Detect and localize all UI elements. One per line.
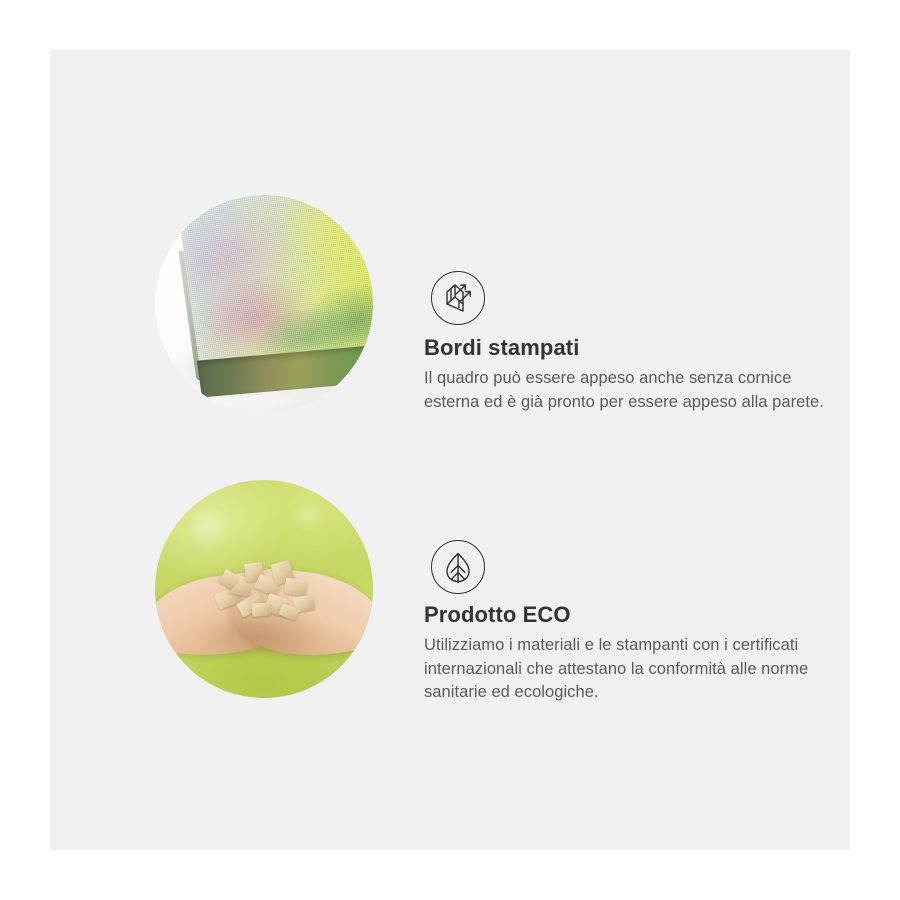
canvas-corner-photo — [155, 195, 373, 413]
feature-title: Bordi stampati — [424, 335, 824, 361]
feature-text-printed-edges: Bordi stampati Il quadro può essere appe… — [424, 335, 824, 414]
eco-photo-circle — [155, 480, 373, 698]
printed-edges-icon — [431, 271, 485, 325]
canvas-block — [177, 195, 373, 407]
product-feature-banner: Bordi stampati Il quadro può essere appe… — [0, 0, 900, 900]
canvas-photo-circle — [155, 195, 373, 413]
feature-description: Il quadro può essere appeso anche senza … — [424, 367, 824, 414]
feature-text-eco-product: Prodotto ECO Utilizziamo i materiali e l… — [424, 602, 824, 705]
content-panel: Bordi stampati Il quadro può essere appe… — [50, 50, 850, 850]
wood-chips-hands-photo — [155, 480, 373, 698]
leaf-icon — [431, 540, 485, 594]
feature-title: Prodotto ECO — [424, 602, 824, 628]
feature-description: Utilizziamo i materiali e le stampanti c… — [424, 634, 824, 705]
wood-chip-pile — [212, 554, 330, 628]
